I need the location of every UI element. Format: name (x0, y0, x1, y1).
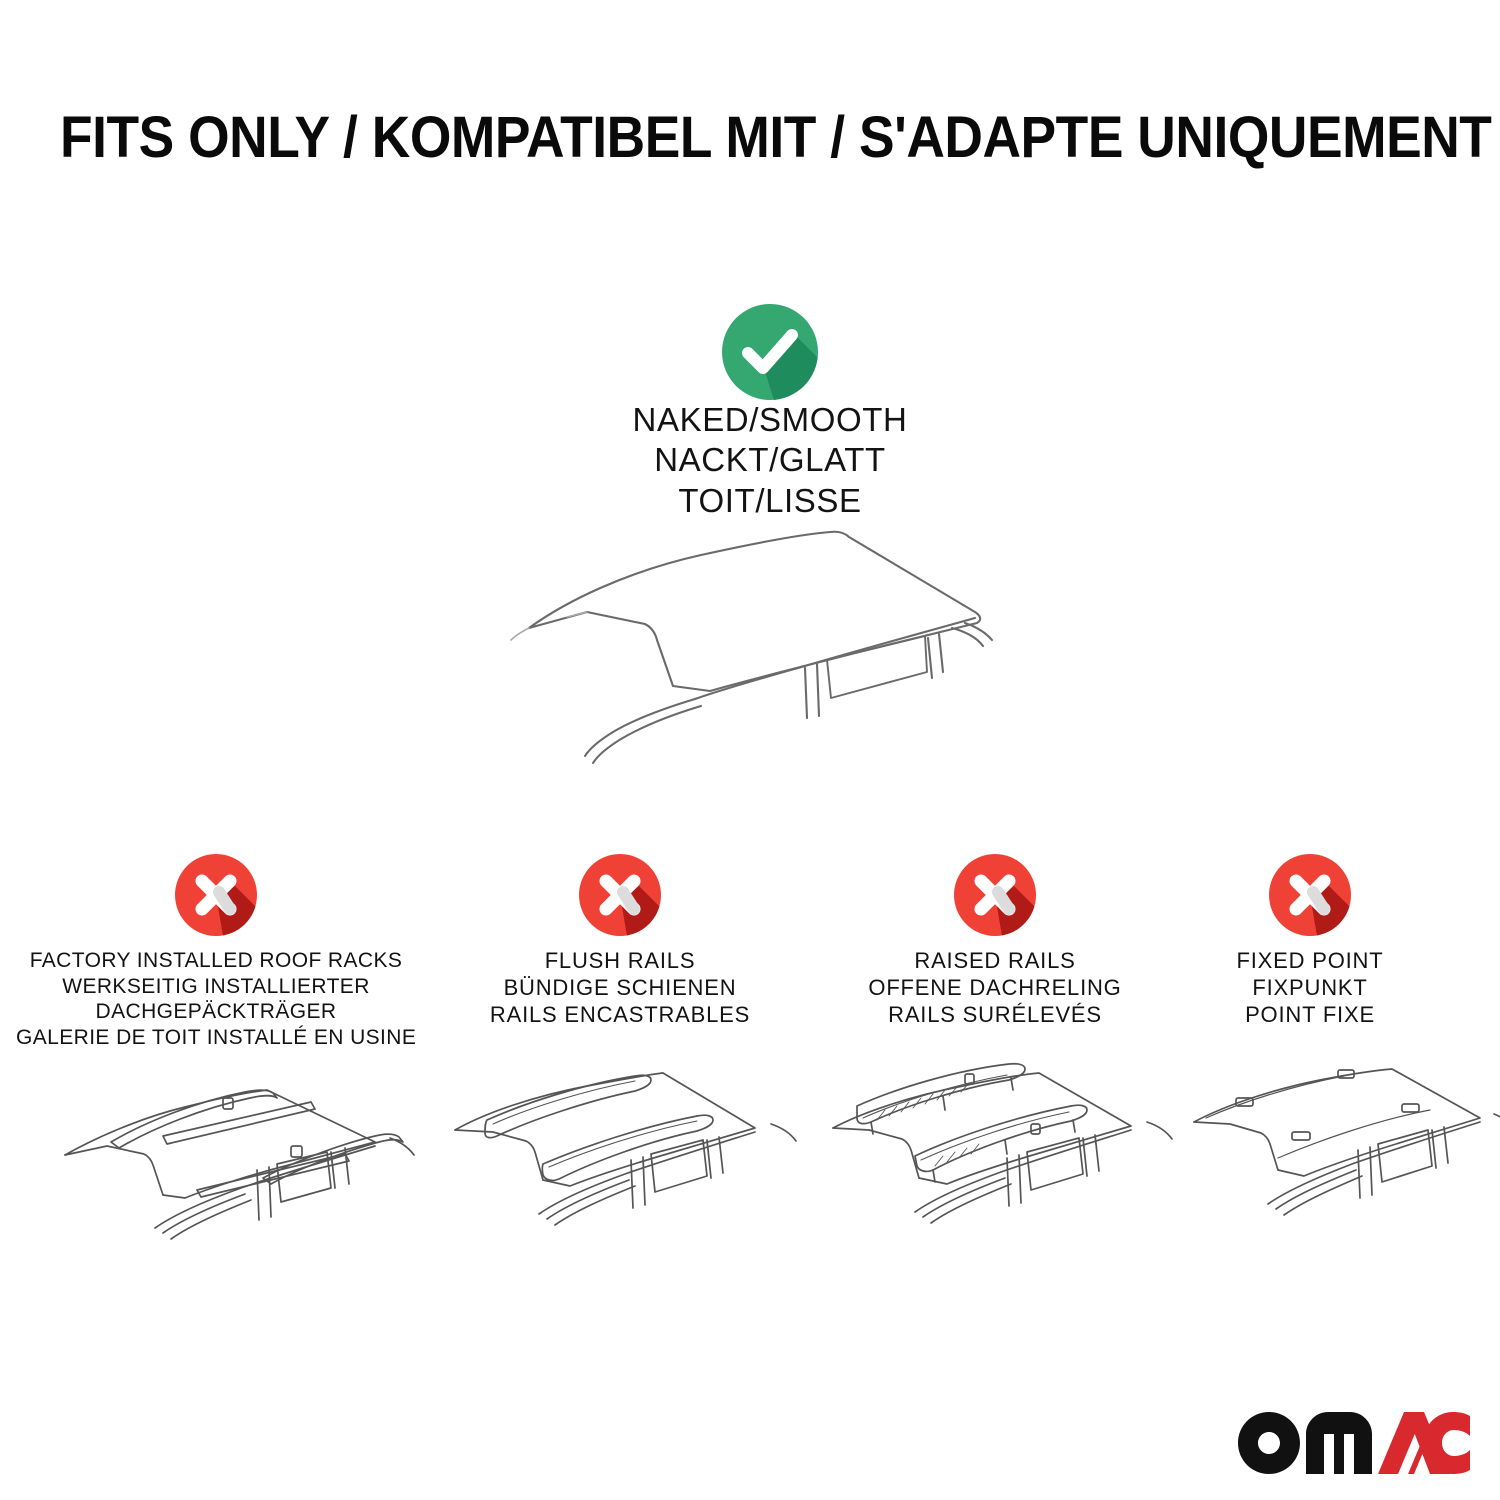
incompatible-label-2: FLUSH RAILS BÜNDIGE SCHIENEN RAILS ENCAS… (430, 948, 810, 1028)
x-circle-icon (1269, 854, 1351, 936)
x-circle-icon (175, 854, 257, 936)
incompatible-label-1-line-3: DACHGEPÄCKTRÄGER (16, 999, 416, 1025)
x-circle-icon (579, 854, 661, 936)
compatible-label-line-2: NACKT/GLATT (500, 440, 1040, 480)
compatible-label-line-1: NAKED/SMOOTH (500, 400, 1040, 440)
incompatible-label-4-line-1: FIXED POINT (1150, 948, 1470, 975)
check-circle-icon (722, 304, 818, 400)
incompatible-label-2-line-1: FLUSH RAILS (430, 948, 810, 975)
incompatible-label-2-line-2: BÜNDIGE SCHIENEN (430, 975, 810, 1002)
incompatible-label-3-line-2: OFFENE DACHRELING (805, 975, 1185, 1002)
compatible-label-line-3: TOIT/LISSE (500, 481, 1040, 521)
incompatible-label-4-line-3: POINT FIXE (1150, 1002, 1470, 1029)
raised-rails-illustration (815, 1060, 1205, 1290)
flush-rails-illustration (435, 1060, 825, 1290)
page-title: FITS ONLY / KOMPATIBEL MIT / S'ADAPTE UN… (60, 104, 1440, 171)
fixed-point-illustration (1180, 1060, 1500, 1290)
incompatible-label-3-line-1: RAISED RAILS (805, 948, 1185, 975)
incompatible-label-3: RAISED RAILS OFFENE DACHRELING RAILS SUR… (805, 948, 1185, 1028)
incompatible-label-2-line-3: RAILS ENCASTRABLES (430, 1002, 810, 1029)
logo-letter-m (1306, 1412, 1372, 1474)
incompatible-label-4: FIXED POINT FIXPUNKT POINT FIXE (1150, 948, 1470, 1028)
factory-roof-rack-illustration (45, 1060, 435, 1290)
incompatible-label-1: FACTORY INSTALLED ROOF RACKS WERKSEITIG … (16, 948, 416, 1050)
compatible-label: NAKED/SMOOTH NACKT/GLATT TOIT/LISSE (500, 400, 1040, 521)
logo-letter-o (1238, 1412, 1300, 1474)
incompatible-label-3-line-3: RAILS SURÉLEVÉS (805, 1002, 1185, 1029)
incompatible-label-1-line-2: WERKSEITIG INSTALLIERTER (16, 974, 416, 1000)
omac-logo (1238, 1412, 1470, 1474)
incompatible-label-4-line-2: FIXPUNKT (1150, 975, 1470, 1002)
incompatible-label-1-line-4: GALERIE DE TOIT INSTALLÉ EN USINE (16, 1025, 416, 1051)
incompatible-label-1-line-1: FACTORY INSTALLED ROOF RACKS (16, 948, 416, 974)
smooth-roof-illustration (505, 520, 1025, 800)
x-circle-icon (954, 854, 1036, 936)
